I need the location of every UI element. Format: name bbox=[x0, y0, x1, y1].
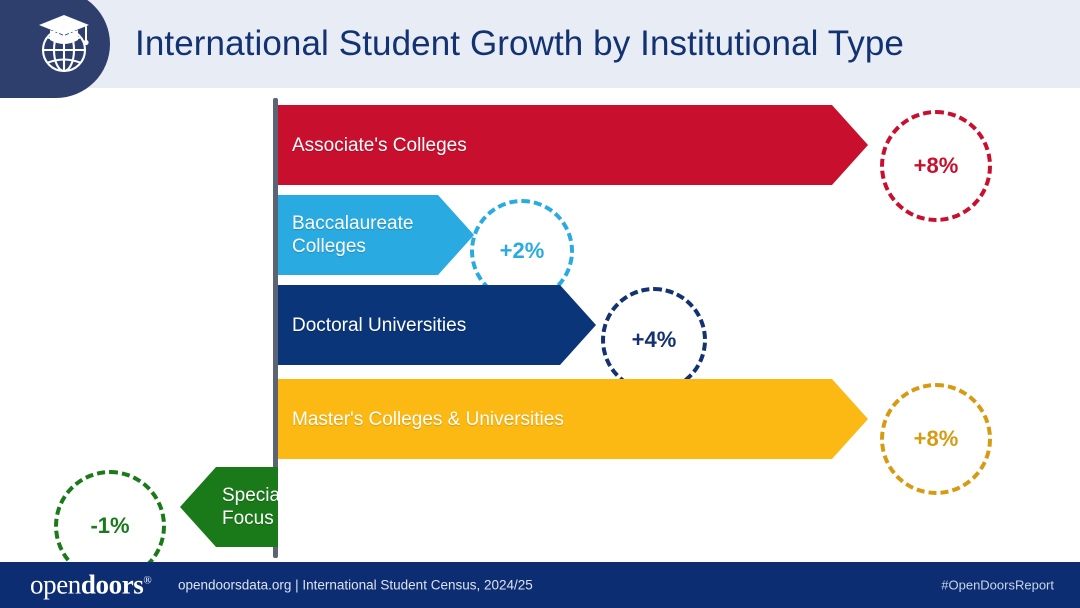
value-badge-label-associates-colleges: +8% bbox=[914, 153, 959, 179]
footer-hashtag: #OpenDoorsReport bbox=[941, 578, 1054, 593]
graduation-globe-icon bbox=[34, 11, 94, 77]
bar-doctoral-universities[interactable]: Doctoral Universities bbox=[278, 285, 596, 365]
slide-footer: opendoors® opendoorsdata.org | Internati… bbox=[0, 562, 1080, 608]
value-badge-label-special-focus: -1% bbox=[90, 513, 129, 539]
slide-root: International Student Growth by Institut… bbox=[0, 0, 1080, 608]
bar-label-masters-colleges-universities: Master's Colleges & Universities bbox=[292, 408, 564, 431]
bar-label-baccalaureate-colleges: Baccalaureate Colleges bbox=[292, 212, 413, 258]
bar-row-special-focus: Special Focus -1% bbox=[0, 467, 1080, 547]
bar-row-baccalaureate-colleges: Baccalaureate Colleges +2% bbox=[0, 195, 1080, 275]
bar-row-doctoral-universities: Doctoral Universities +4% bbox=[0, 285, 1080, 365]
bar-masters-colleges-universities[interactable]: Master's Colleges & Universities bbox=[278, 379, 868, 459]
opendoors-logo: opendoors® bbox=[30, 570, 151, 601]
bar-associates-colleges[interactable]: Associate's Colleges bbox=[278, 105, 868, 185]
slide-header: International Student Growth by Institut… bbox=[0, 0, 1080, 88]
value-badge-label-masters-colleges-universities: +8% bbox=[914, 426, 959, 452]
chart-area: Associate's Colleges +8% Baccalaureate C… bbox=[0, 88, 1080, 562]
bar-row-masters-colleges-universities: Master's Colleges & Universities +8% bbox=[0, 379, 1080, 459]
bar-baccalaureate-colleges[interactable]: Baccalaureate Colleges bbox=[278, 195, 474, 275]
value-badge-doctoral-universities: +4% bbox=[601, 287, 707, 393]
bar-label-special-focus: Special Focus bbox=[222, 484, 284, 530]
page-title: International Student Growth by Institut… bbox=[135, 0, 904, 88]
opendoors-logo-bold: doors bbox=[81, 570, 144, 600]
value-badge-label-baccalaureate-colleges: +2% bbox=[500, 238, 545, 264]
bar-label-associates-colleges: Associate's Colleges bbox=[292, 134, 467, 157]
registered-mark-icon: ® bbox=[143, 575, 151, 587]
footer-source-text: opendoorsdata.org | International Studen… bbox=[178, 578, 533, 593]
value-badge-label-doctoral-universities: +4% bbox=[632, 327, 677, 353]
bar-row-associates-colleges: Associate's Colleges +8% bbox=[0, 105, 1080, 185]
opendoors-logo-light: open bbox=[30, 570, 81, 600]
brand-logo-badge bbox=[0, 0, 110, 98]
bar-special-focus[interactable]: Special Focus bbox=[180, 467, 278, 547]
bar-label-doctoral-universities: Doctoral Universities bbox=[292, 314, 466, 337]
